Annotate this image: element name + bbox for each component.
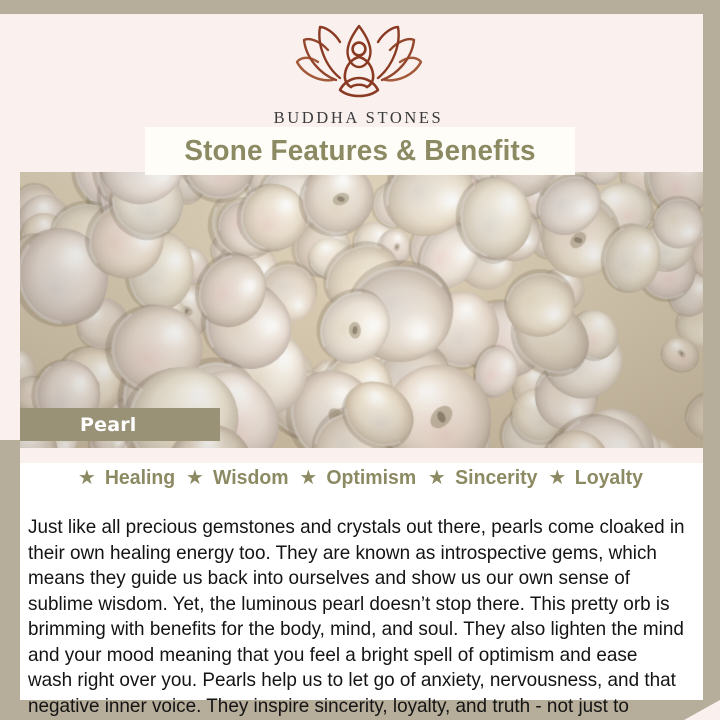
benefit-item: ★ Wisdom	[186, 466, 290, 490]
frame-band-left	[0, 440, 20, 706]
benefit-label: Sincerity	[455, 466, 537, 490]
benefits-row: ★ Healing ★ Wisdom ★ Optimism ★ Sincerit…	[20, 466, 703, 490]
description-paragraph: Just like all precious gemstones and cry…	[28, 515, 685, 720]
stone-features-infographic: BUDDHA STONES Stone Features & Benefits …	[0, 0, 720, 720]
lotus-meditation-icon	[284, 22, 434, 105]
stone-name-bar: Pearl	[20, 408, 220, 441]
brand-name: BUDDHA STONES	[274, 108, 444, 128]
star-icon: ★	[548, 468, 566, 488]
benefit-item: ★ Sincerity	[428, 466, 540, 490]
frame-band-right	[703, 0, 720, 706]
star-icon: ★	[428, 468, 446, 488]
benefit-item: ★ Loyalty	[548, 466, 645, 490]
benefit-label: Healing	[105, 466, 175, 490]
star-icon: ★	[299, 468, 317, 488]
benefit-item: ★ Healing	[78, 466, 177, 490]
frame-band-top	[0, 0, 720, 14]
stone-name-label: Pearl	[80, 414, 137, 436]
benefit-label: Loyalty	[575, 466, 643, 490]
title-banner: Stone Features & Benefits	[145, 127, 575, 175]
benefit-label: Optimism	[327, 466, 417, 490]
pearl-photograph	[20, 172, 703, 448]
star-icon: ★	[186, 468, 204, 488]
benefit-label: Wisdom	[213, 466, 289, 490]
content-top-strip	[20, 448, 703, 463]
star-icon: ★	[78, 468, 96, 488]
content-panel: ★ Healing ★ Wisdom ★ Optimism ★ Sincerit…	[20, 448, 703, 700]
pearl-photo-canvas	[20, 172, 703, 448]
page-title: Stone Features & Benefits	[184, 135, 535, 168]
benefit-item: ★ Optimism	[299, 466, 418, 490]
frame-band-bottom-corner-cut	[684, 700, 720, 720]
brand-logo: BUDDHA STONES	[14, 22, 703, 128]
